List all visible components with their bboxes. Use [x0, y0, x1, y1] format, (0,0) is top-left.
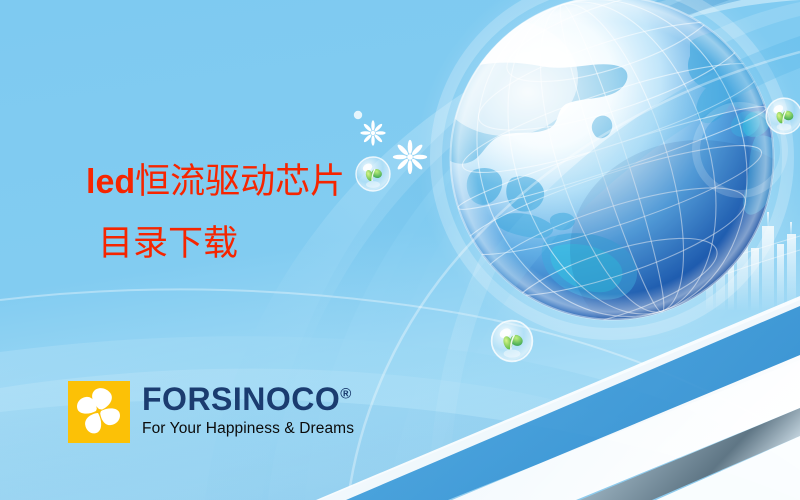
registered-trademark-symbol: ®	[340, 385, 352, 402]
headline-latin-text: led	[86, 163, 135, 201]
leaf-bubble-bottom-icon	[492, 321, 533, 362]
headline-cjk-text: 恒流驱动芯片	[135, 162, 345, 202]
headline-line-1: led恒流驱动芯片	[86, 162, 345, 202]
leaf-bubble-left-icon	[356, 157, 390, 191]
dot-sparkle-icon	[354, 111, 362, 119]
logo-text-group: FORSINOCO® For Your Happiness & Dreams	[142, 381, 354, 438]
flower-sparkle-lower-icon	[393, 140, 427, 174]
flower-sparkle-upper-icon	[360, 120, 385, 145]
marketing-banner: led恒流驱动芯片 目录下载 FORSINOCO® For Your Happi…	[0, 0, 800, 500]
headline-text-block: led恒流驱动芯片 目录下载	[86, 162, 345, 265]
logo-brand-name: FORSINOCO	[142, 381, 340, 417]
headline-line-2: 目录下载	[98, 224, 345, 264]
four-petal-pinwheel-icon	[68, 381, 130, 443]
logo-tagline: For Your Happiness & Dreams	[142, 420, 354, 438]
logo-wordmark: FORSINOCO®	[142, 383, 354, 415]
faint-bubble-outline	[696, 106, 784, 194]
brand-logo[interactable]: FORSINOCO® For Your Happiness & Dreams	[68, 381, 354, 443]
